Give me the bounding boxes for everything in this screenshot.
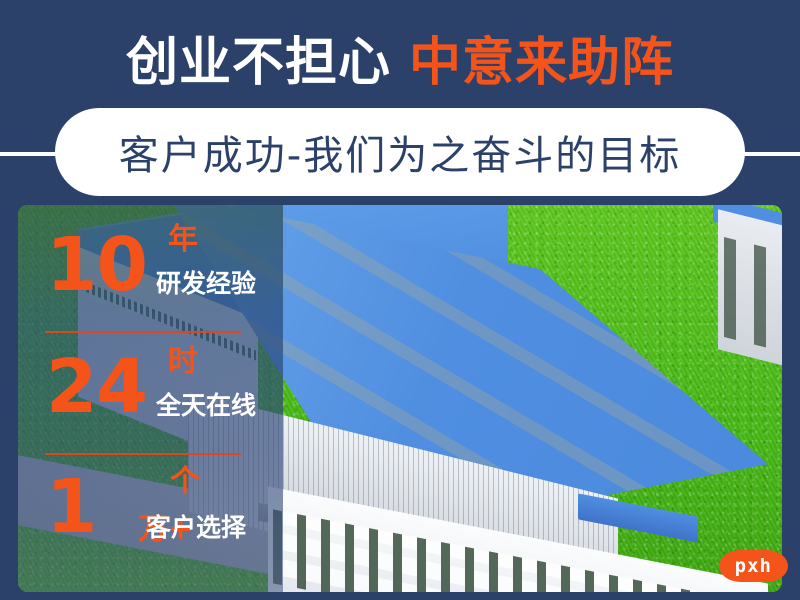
headline-orange-text: 中意来助阵 bbox=[409, 20, 674, 95]
stat-description: 客户选择 bbox=[146, 513, 246, 543]
stats-panel: 10 年 研发经验 24 时 全天在线 1 万+ 个 客户选择 bbox=[18, 205, 283, 592]
stat-item-hours: 24 时 全天在线 bbox=[18, 343, 283, 443]
pxh-badge[interactable]: pxh bbox=[719, 550, 788, 582]
headline-white-text: 创业不担心 bbox=[126, 20, 391, 95]
stat-number: 24 bbox=[46, 343, 147, 431]
headline: 创业不担心 中意来助阵 bbox=[0, 22, 800, 92]
promo-banner: 中意矿机 ZOONYE Zhongyikuangji 10 年 研发经验 24 … bbox=[0, 0, 800, 600]
stat-unit: 时 bbox=[168, 345, 198, 379]
stat-separator bbox=[45, 453, 241, 455]
banner-header: 创业不担心 中意来助阵 客户成功-我们为之奋斗的目标 bbox=[0, 0, 800, 205]
stat-unit: 个 bbox=[170, 465, 200, 499]
stat-number: 1 bbox=[46, 463, 97, 551]
stat-unit: 年 bbox=[168, 223, 198, 257]
stat-item-years: 10 年 研发经验 bbox=[18, 221, 283, 321]
stat-number: 10 bbox=[46, 221, 147, 309]
stat-description: 研发经验 bbox=[156, 269, 256, 299]
subtitle-text: 客户成功-我们为之奋斗的目标 bbox=[119, 123, 681, 181]
stat-description: 全天在线 bbox=[156, 391, 256, 421]
stat-item-customers: 1 万+ 个 客户选择 bbox=[18, 467, 283, 567]
subtitle-pill: 客户成功-我们为之奋斗的目标 bbox=[55, 108, 745, 196]
stat-separator bbox=[45, 331, 241, 333]
